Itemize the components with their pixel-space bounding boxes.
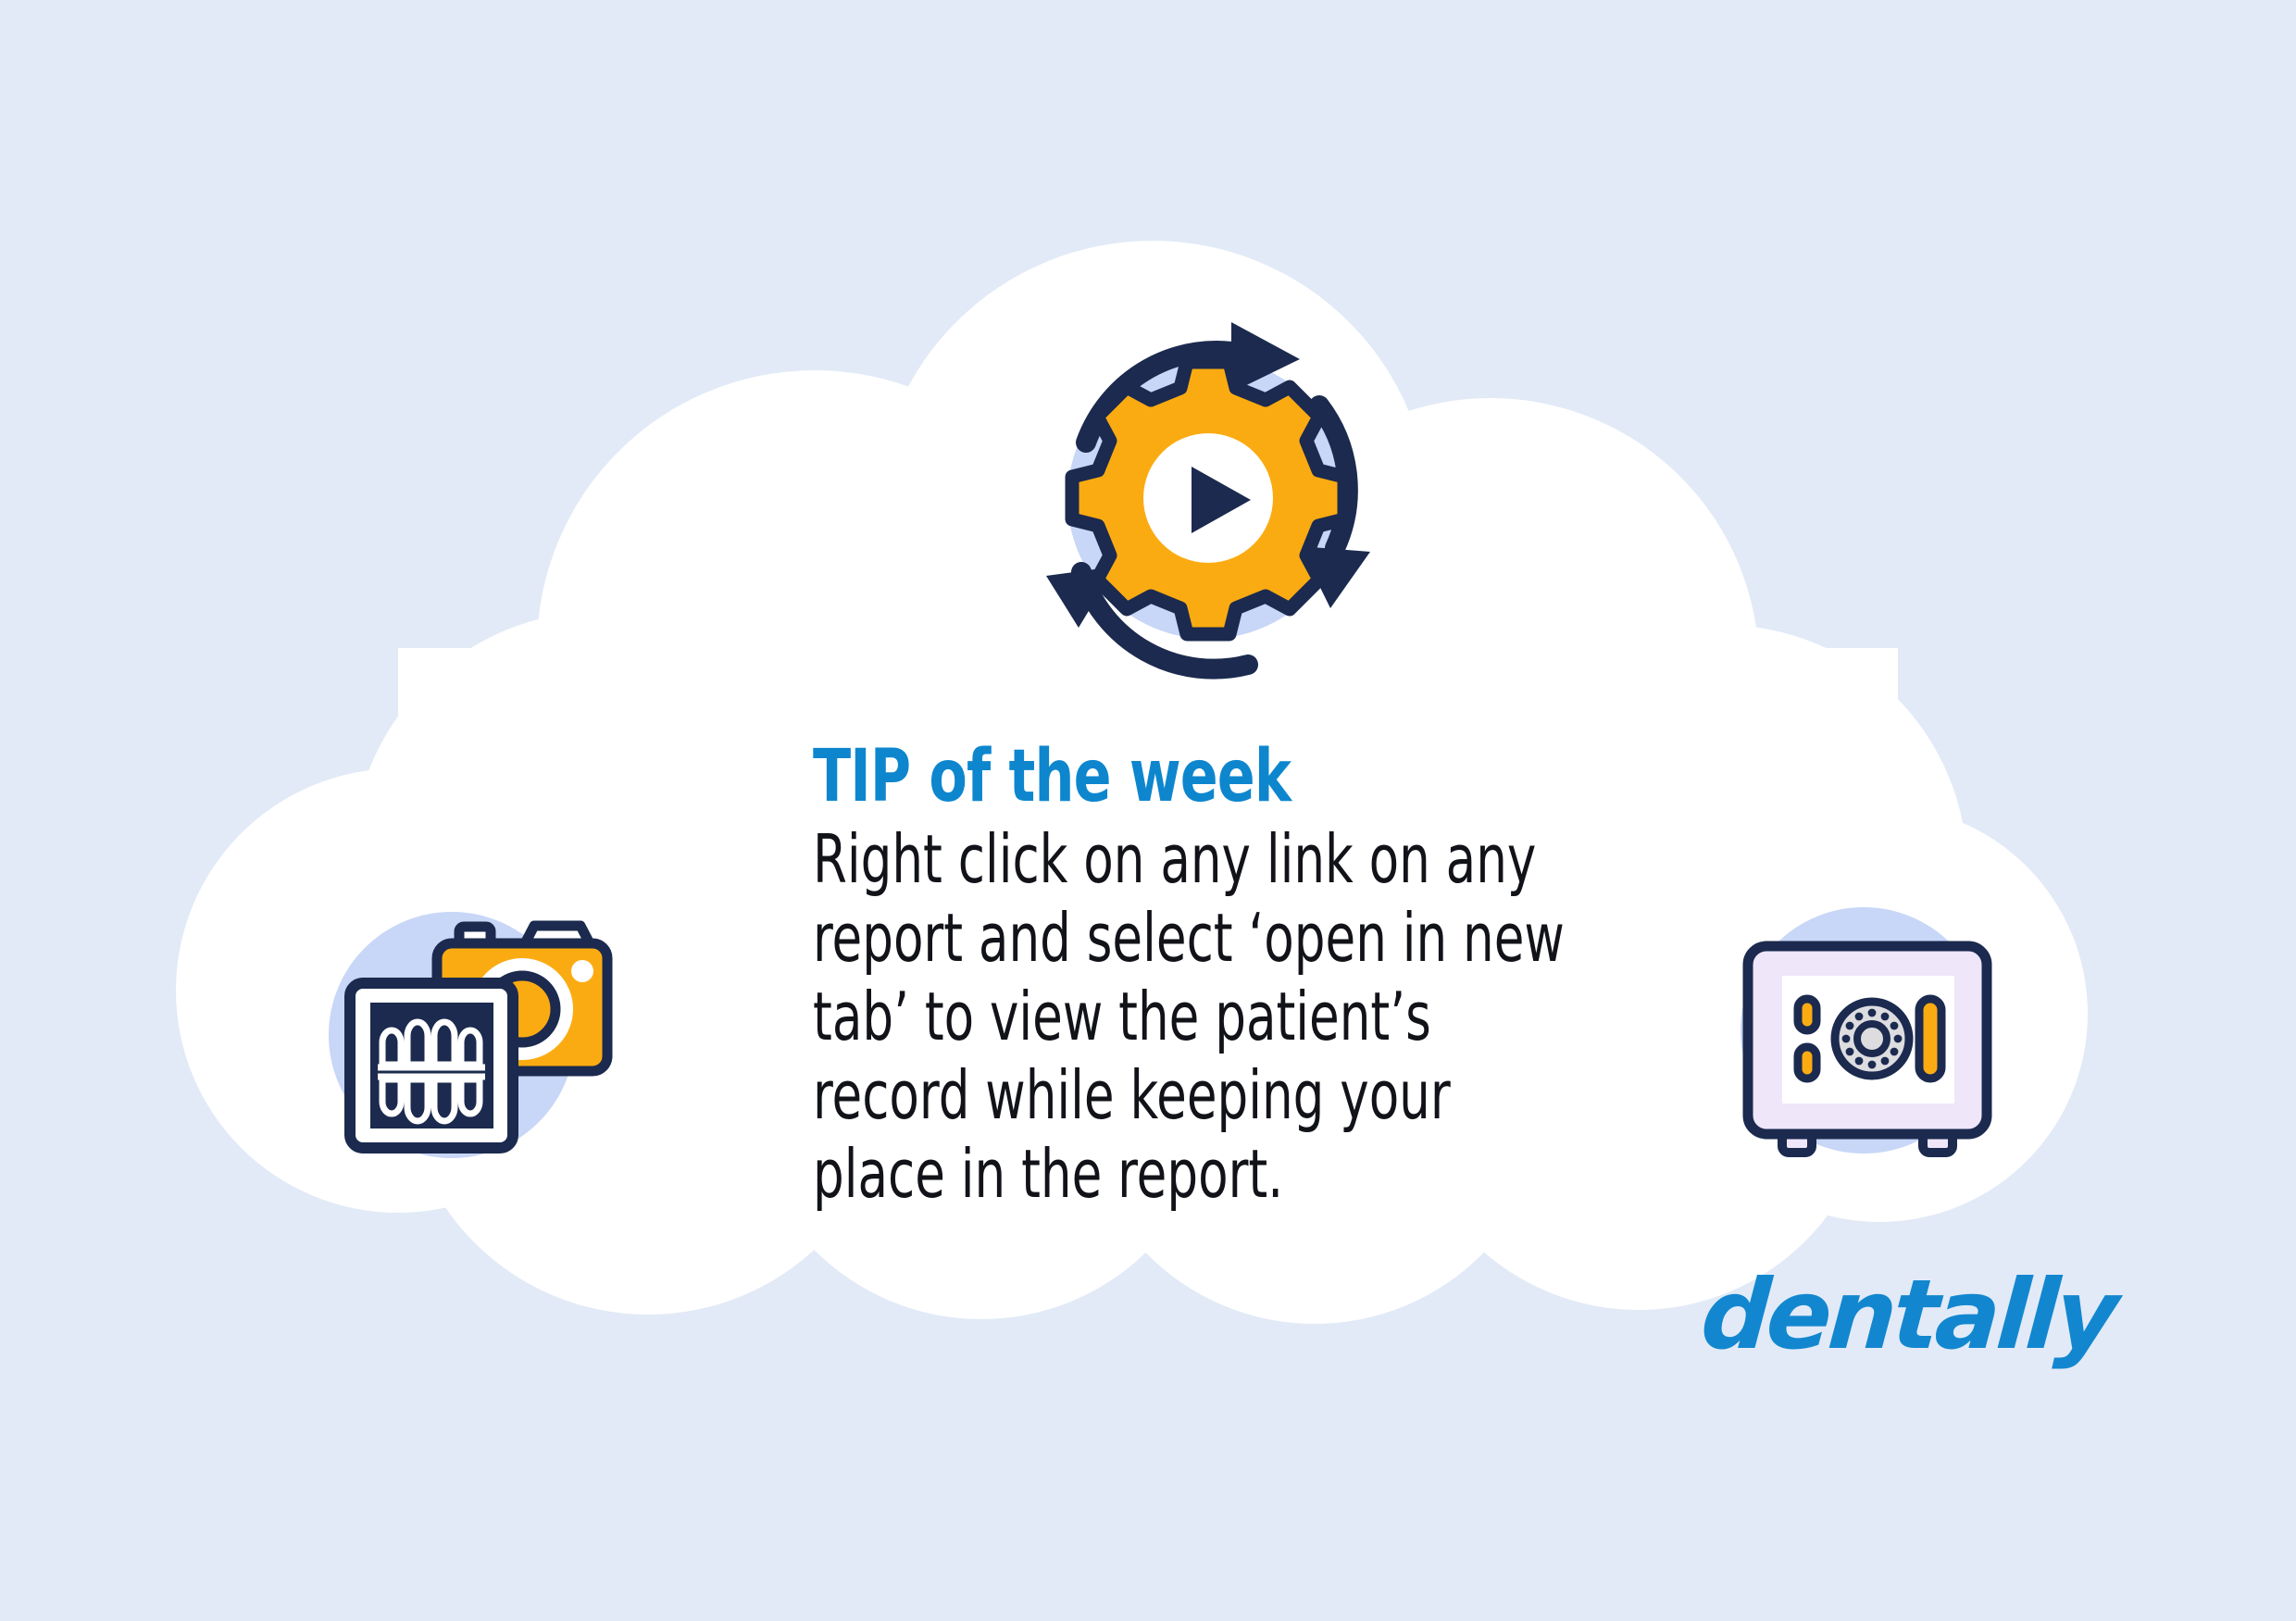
safe-combination-dial xyxy=(1835,1002,1909,1076)
tip-text-block: TIP of the week Right click on any link … xyxy=(813,741,1757,1214)
safe-handle xyxy=(1919,999,1941,1079)
poster-canvas: TIP of the week Right click on any link … xyxy=(0,0,2296,1621)
dentally-logo: dentally xyxy=(1698,1266,2117,1363)
tip-body-text: Right click on any link on any report an… xyxy=(813,820,1587,1214)
page-title: TIP of the week xyxy=(813,741,1625,813)
